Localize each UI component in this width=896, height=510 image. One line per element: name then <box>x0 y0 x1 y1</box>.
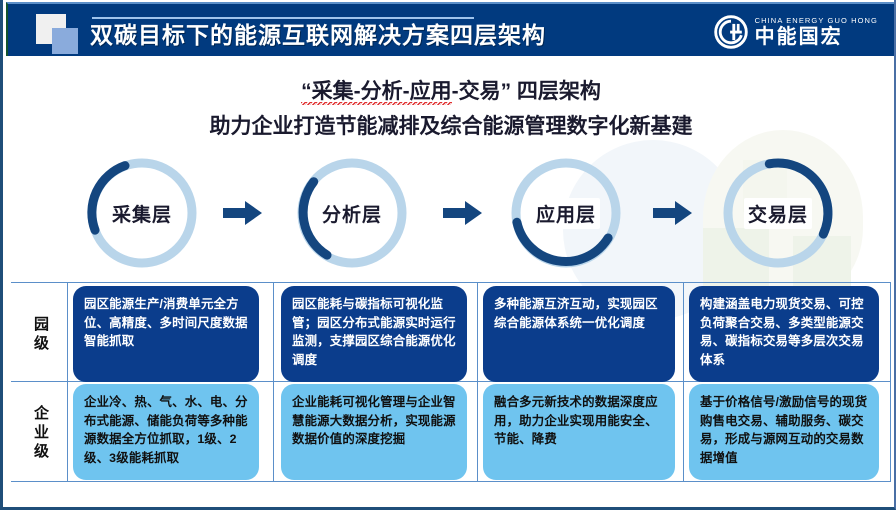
grid-line-bottom <box>11 481 891 482</box>
subtitle-spellchecked-text: “采集-分析-应用 <box>301 80 452 105</box>
flow-node-apply-label: 应用层 <box>532 198 600 229</box>
matrix-cell-park-analyze[interactable]: 园区能耗与碳指标可视化监管；园区分布式能源实时运行监测，支撑园区综合能源优化调度 <box>281 286 467 382</box>
row-label-enterprise-level-text: 企业级 <box>34 404 51 461</box>
flow-arrow-2 <box>443 200 483 226</box>
subtitle-block: “采集-分析-应用-交易” 四层架构 助力企业打造节能减排及综合能源管理数字化新… <box>3 78 896 142</box>
matrix-cell-enterprise-trade[interactable]: 基于价格信号/激励信号的现货购售电交易、辅助服务、碳交易，形成与源网互动的交易数… <box>689 384 879 480</box>
row-label-park-level-text: 园级 <box>34 315 51 353</box>
row-label-enterprise-level: 企业级 <box>19 386 65 478</box>
flow-node-collect[interactable]: 采集层 <box>81 152 203 274</box>
flow-node-analyze-label: 分析层 <box>318 198 386 229</box>
grid-line-v1 <box>273 282 274 481</box>
grid-line-v0 <box>67 282 68 481</box>
subtitle-line-2: 助力企业打造节能减排及综合能源管理数字化新基建 <box>3 112 896 142</box>
flow-node-trade-label: 交易层 <box>744 198 812 229</box>
flow-node-apply[interactable]: 应用层 <box>505 152 627 274</box>
subtitle-line-1-rest: -交易” 四层架构 <box>452 80 601 103</box>
matrix-cell-enterprise-apply[interactable]: 融合多元新技术的数据深度应用，助力企业实现用能安全、节能、降费 <box>483 384 675 480</box>
flow-diagram: 采集层 分析层 <box>3 152 896 274</box>
matrix-cell-park-apply[interactable]: 多种能源互济互动，实现园区综合能源体系统一优化调度 <box>483 286 675 382</box>
flow-arrow-3 <box>653 200 693 226</box>
grid-line-top <box>11 282 891 283</box>
grid-line-v2 <box>477 282 478 481</box>
slide-canvas: 双碳目标下的能源互联网解决方案四层架构 CHINA ENERGY GUO HON… <box>0 0 896 510</box>
matrix-cell-enterprise-collect[interactable]: 企业冷、热、气、水、电、分布式能源、储能负荷等多种能源数据全方位抓取，1级、2级… <box>73 384 259 480</box>
grid-line-v3 <box>683 282 684 481</box>
flow-node-collect-label: 采集层 <box>108 198 176 229</box>
logo-text-block: CHINA ENERGY GUO HONG 中能国宏 <box>755 16 878 48</box>
matrix-cell-enterprise-analyze[interactable]: 企业能耗可视化管理与企业智慧能源大数据分析，实现能源数据价值的深度挖掘 <box>281 384 467 480</box>
matrix-cell-park-collect[interactable]: 园区能源生产/消费单元全方位、高精度、多时间尺度数据智能抓取 <box>73 286 259 382</box>
architecture-matrix: 园级 企业级 园区能源生产/消费单元全方位、高精度、多时间尺度数据智能抓取 园区… <box>11 282 891 482</box>
matrix-cell-park-trade[interactable]: 构建涵盖电力现货交易、可控负荷聚合交易、多类型能源交易、碳指标交易等多层次交易体… <box>689 286 879 382</box>
subtitle-line-1: “采集-分析-应用-交易” 四层架构 <box>3 78 896 106</box>
page-title: 双碳目标下的能源互联网解决方案四层架构 <box>90 16 546 50</box>
flow-node-label: 应用层 <box>505 152 627 274</box>
g-circle-logo-icon <box>713 14 749 50</box>
logo-english-name: CHINA ENERGY GUO HONG <box>755 16 878 26</box>
header-bar: 双碳目标下的能源互联网解决方案四层架构 CHINA ENERGY GUO HON… <box>6 2 896 56</box>
company-logo: CHINA ENERGY GUO HONG 中能国宏 <box>713 13 878 51</box>
flow-node-label: 分析层 <box>291 152 413 274</box>
flow-node-label: 采集层 <box>81 152 203 274</box>
flow-node-analyze[interactable]: 分析层 <box>291 152 413 274</box>
row-label-park-level: 园级 <box>19 290 65 378</box>
decor-square-blue-icon <box>52 28 78 54</box>
flow-node-label: 交易层 <box>717 152 839 274</box>
flow-arrow-1 <box>223 200 263 226</box>
grid-line-v4 <box>890 282 891 481</box>
flow-node-trade[interactable]: 交易层 <box>717 152 839 274</box>
logo-chinese-name: 中能国宏 <box>755 26 878 48</box>
